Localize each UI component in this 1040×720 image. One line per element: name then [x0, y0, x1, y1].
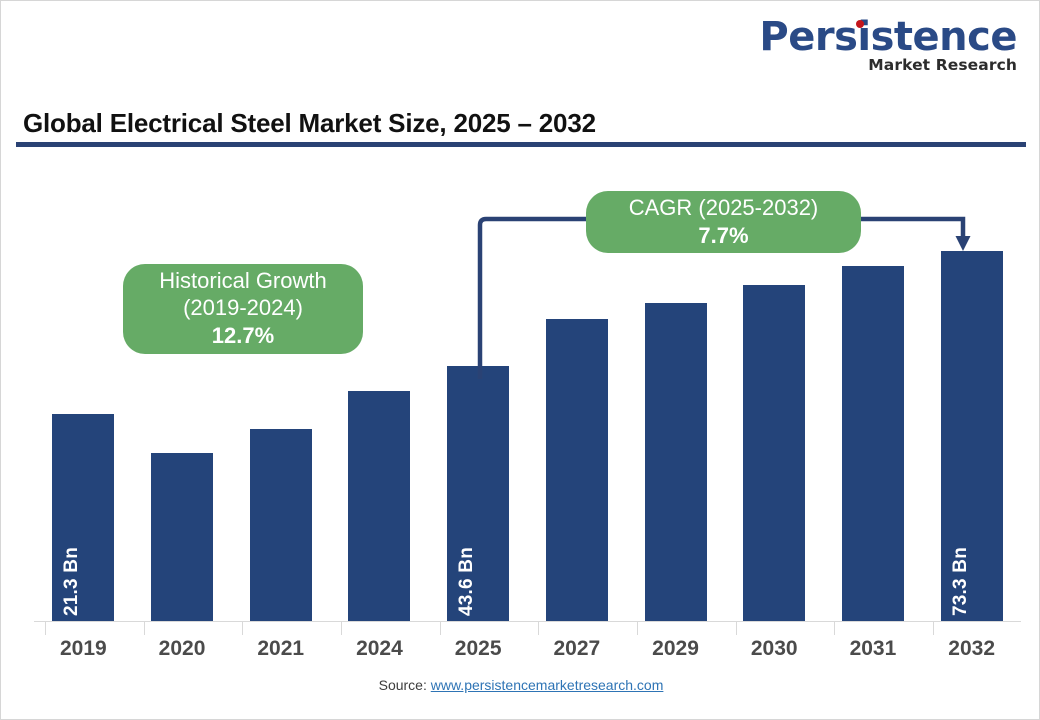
title-divider	[16, 142, 1026, 147]
page-title: Global Electrical Steel Market Size, 202…	[23, 108, 596, 139]
source-prefix: Source:	[379, 677, 431, 693]
cagr-callout: CAGR (2025-2032) 7.7%	[586, 191, 861, 253]
axis-tick	[440, 621, 441, 635]
bar-2027	[546, 319, 608, 621]
callout-line-2: (2019-2024)	[183, 295, 303, 322]
bar-2024	[348, 391, 410, 621]
bar-2031	[842, 266, 904, 621]
x-label-2020: 2020	[133, 637, 232, 661]
x-label-2029: 2029	[626, 637, 725, 661]
axis-tick	[538, 621, 539, 635]
axis-tick	[242, 621, 243, 635]
bar-2020	[151, 453, 213, 621]
chart-page: Persistence Market Research Global Elect…	[0, 0, 1040, 720]
x-axis-line	[34, 621, 1021, 622]
x-label-2032: 2032	[922, 637, 1021, 661]
callout-value: 7.7%	[698, 222, 748, 250]
axis-tick	[45, 621, 46, 635]
bar-2029	[645, 303, 707, 621]
bar-slot: US$ 21.3 Bn	[34, 161, 133, 621]
x-label-2025: 2025	[429, 637, 528, 661]
bar-2021	[250, 429, 312, 621]
axis-tick	[834, 621, 835, 635]
x-axis-labels: 2019 2020 2021 2024 2025 2027 2029 2030 …	[34, 637, 1021, 667]
bar-2019: US$ 21.3 Bn	[52, 414, 114, 621]
axis-tick	[144, 621, 145, 635]
axis-tick	[637, 621, 638, 635]
callout-value: 12.7%	[212, 322, 274, 350]
x-label-2027: 2027	[528, 637, 627, 661]
logo-wordmark-text: Persistence	[759, 14, 1017, 60]
x-label-2019: 2019	[34, 637, 133, 661]
bar-2025: US$ 43.6 Bn	[447, 366, 509, 621]
bar-2030	[743, 285, 805, 621]
x-label-2024: 2024	[330, 637, 429, 661]
logo-subtitle: Market Research	[759, 58, 1017, 74]
logo-wordmark: Persistence	[759, 17, 1017, 57]
source-link[interactable]: www.persistencemarketresearch.com	[431, 677, 664, 693]
bar-slot	[330, 161, 429, 621]
company-logo: Persistence Market Research	[759, 17, 1017, 74]
source-note: Source: www.persistencemarketresearch.co…	[1, 677, 1040, 693]
x-label-2021: 2021	[231, 637, 330, 661]
bar-slot: US$ 73.3 Bn	[922, 161, 1021, 621]
callout-line-1: Historical Growth	[159, 268, 326, 295]
axis-tick	[933, 621, 934, 635]
axis-tick	[341, 621, 342, 635]
bar-slot	[133, 161, 232, 621]
x-label-2031: 2031	[824, 637, 923, 661]
bar-slot	[231, 161, 330, 621]
x-label-2030: 2030	[725, 637, 824, 661]
bar-chart-plot: US$ 21.3 Bn US$ 43.6 Bn	[34, 161, 1021, 621]
bar-slot: US$ 43.6 Bn	[429, 161, 528, 621]
historical-growth-callout: Historical Growth (2019-2024) 12.7%	[123, 264, 363, 354]
axis-tick	[736, 621, 737, 635]
callout-line-1: CAGR (2025-2032)	[629, 195, 819, 222]
bar-2032: US$ 73.3 Bn	[941, 251, 1003, 621]
